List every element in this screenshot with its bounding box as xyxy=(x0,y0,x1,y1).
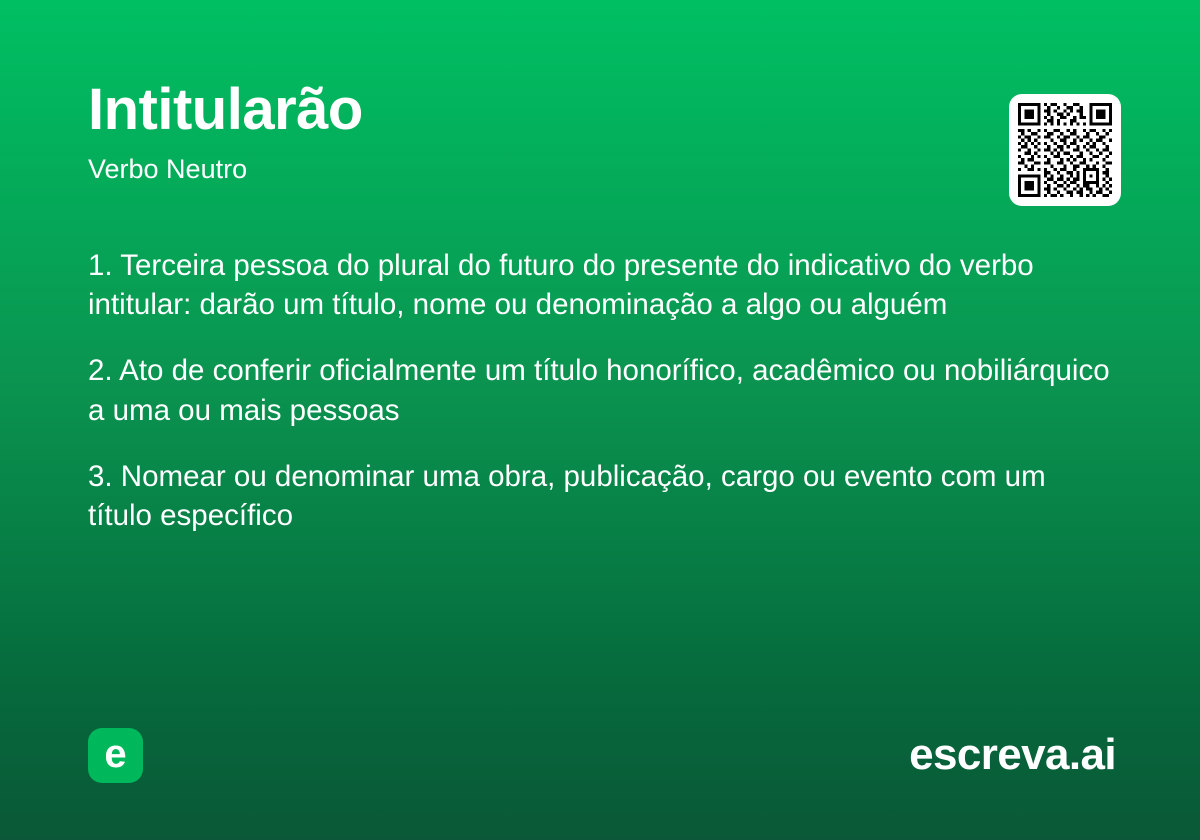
definition-card: Intitularão Verbo Neutro xyxy=(0,0,1200,840)
brand-logo-icon: e xyxy=(88,728,143,783)
qr-code-icon xyxy=(1018,103,1112,197)
word-class-label: Verbo Neutro xyxy=(88,155,1120,185)
qr-code-container[interactable] xyxy=(1009,94,1121,206)
brand-logo-letter: e xyxy=(104,734,126,774)
brand-name: escreva.ai xyxy=(909,733,1116,777)
definition-item: 3. Nomear ou denominar uma obra, publica… xyxy=(88,457,1110,535)
definition-item: 2. Ato de conferir oficialmente um títul… xyxy=(88,351,1110,429)
definition-item: 1. Terceira pessoa do plural do futuro d… xyxy=(88,246,1110,324)
card-footer: e escreva.ai xyxy=(88,726,1116,784)
definition-list: 1. Terceira pessoa do plural do futuro d… xyxy=(88,246,1110,535)
card-header: Intitularão Verbo Neutro xyxy=(88,80,1120,185)
page-title: Intitularão xyxy=(88,80,1120,141)
